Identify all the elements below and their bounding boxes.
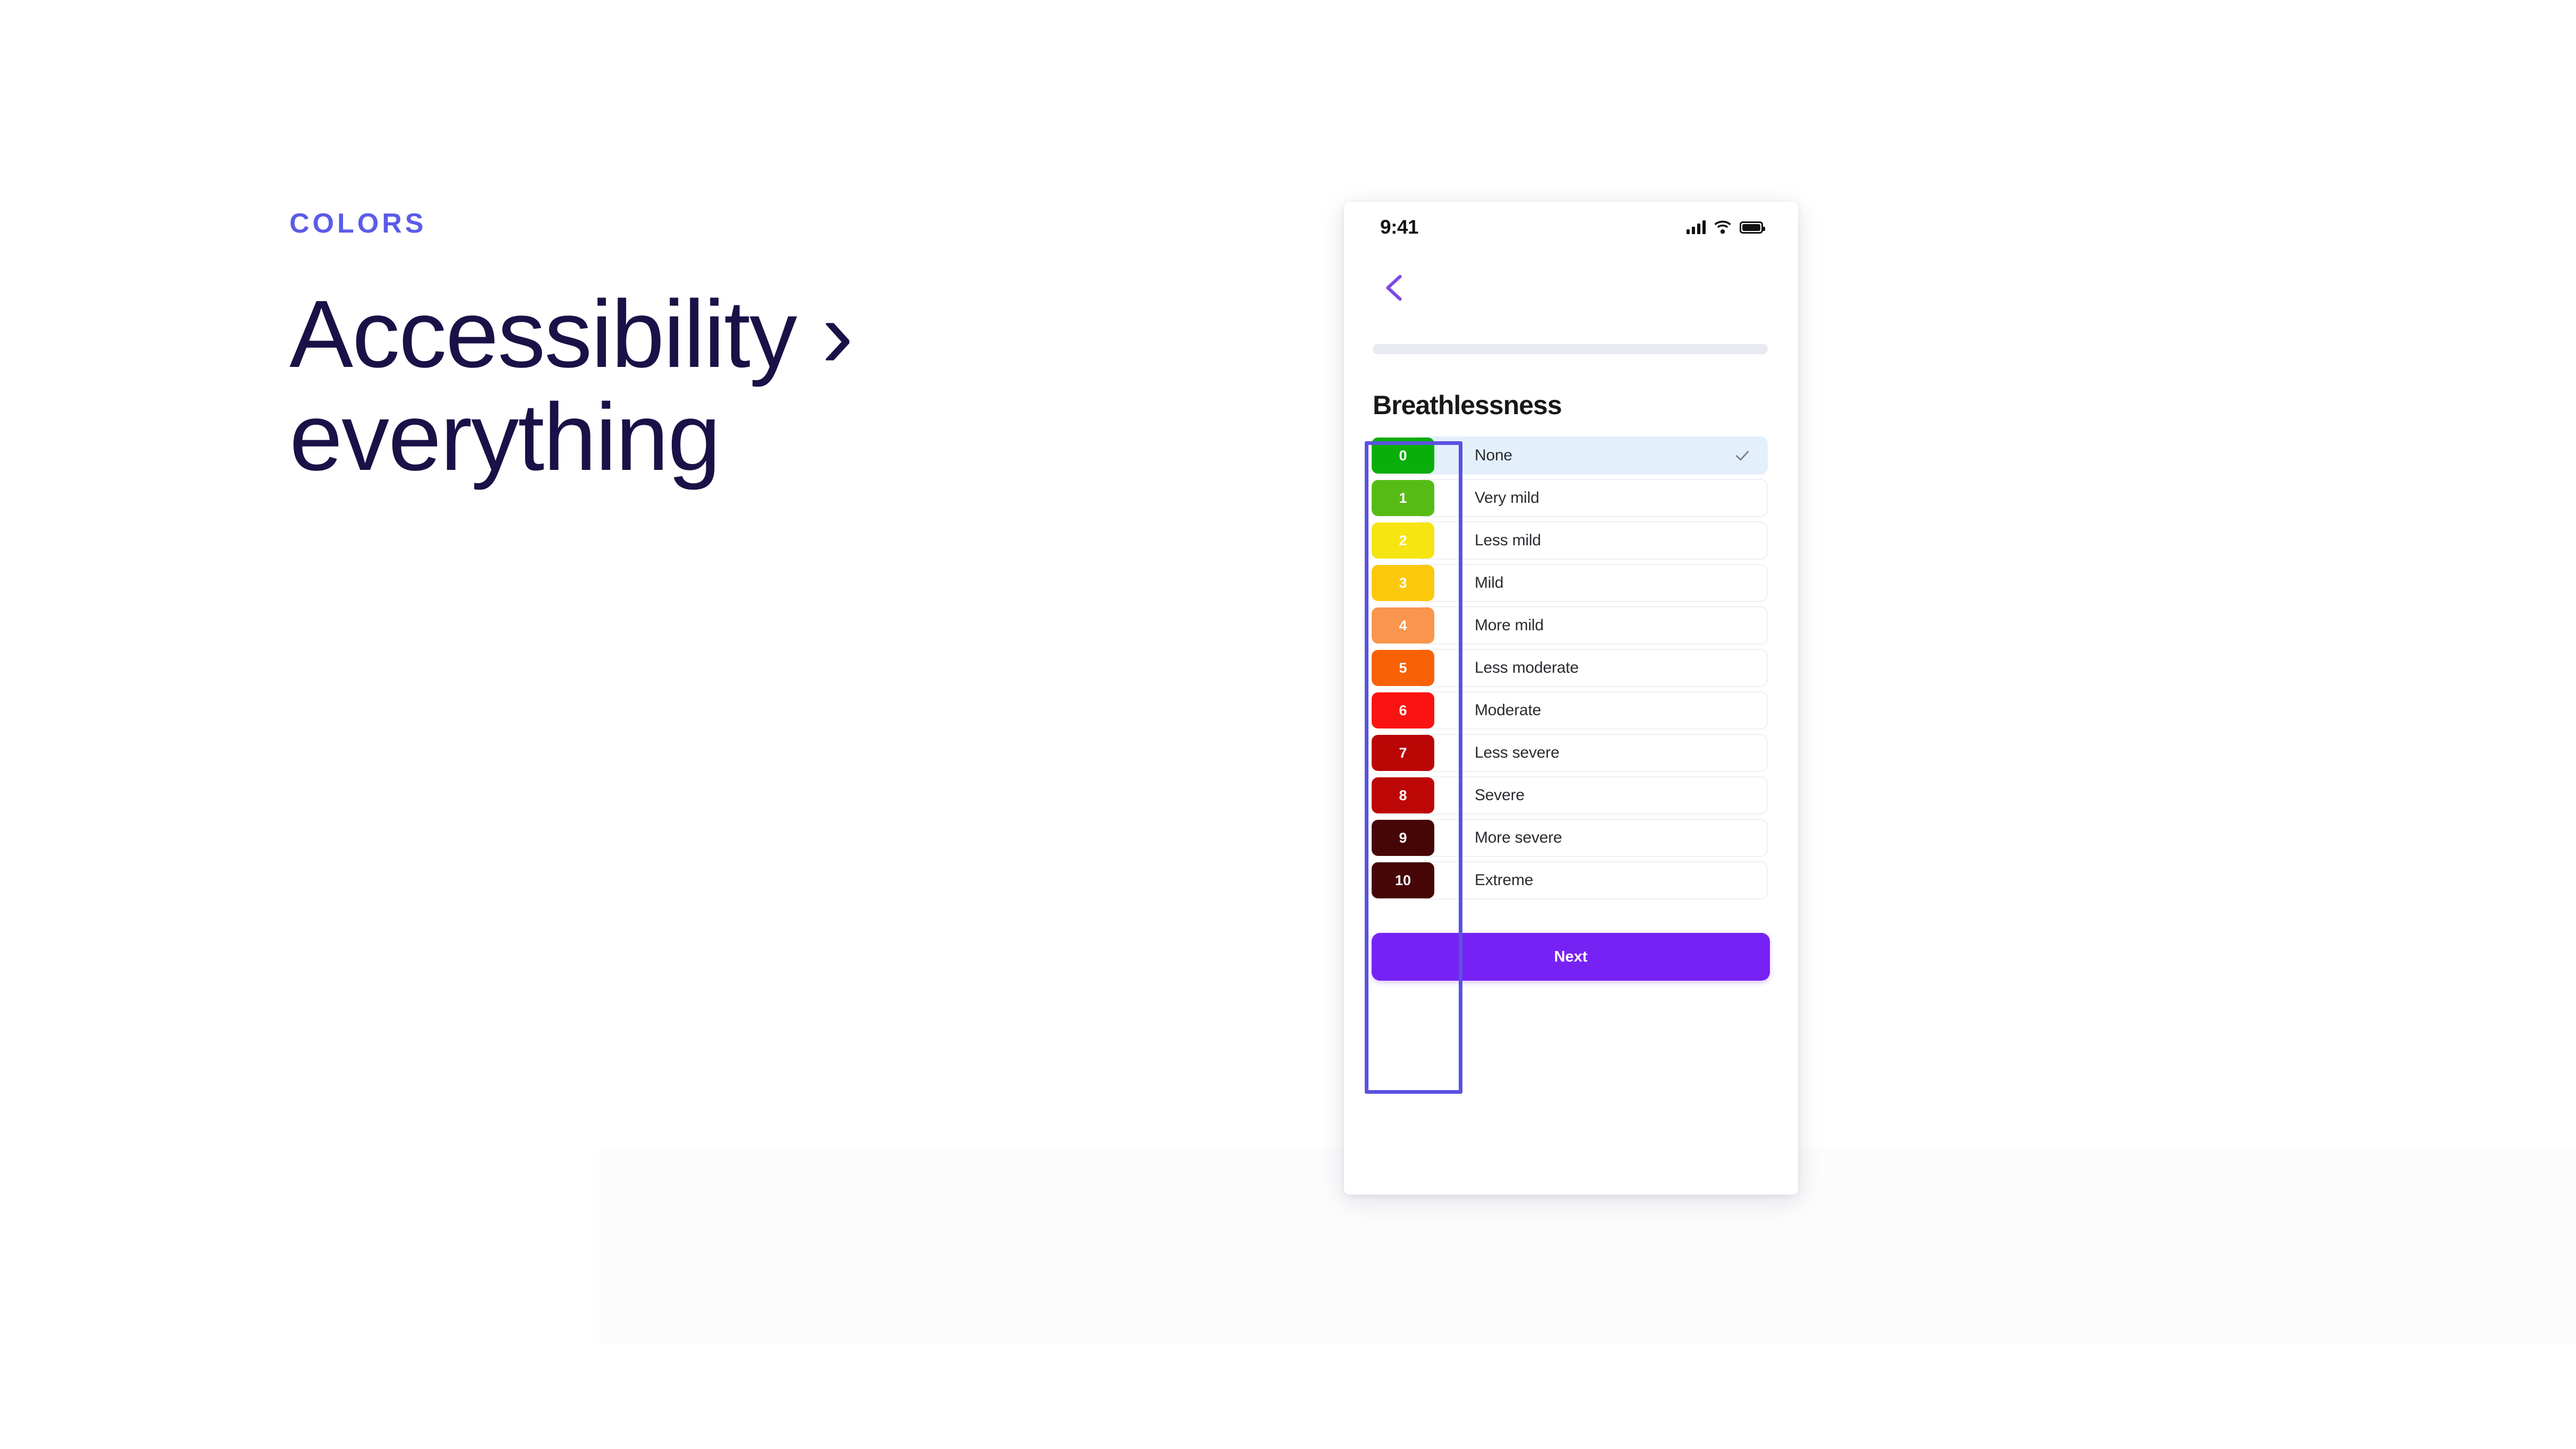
scale-row[interactable]: Mild3: [1344, 562, 1798, 604]
check-icon: [1734, 447, 1751, 464]
scale-row-card[interactable]: Less severe: [1416, 734, 1768, 772]
scale-row-label: Mild: [1475, 574, 1751, 592]
phone-mockup: 9:41: [1344, 202, 1798, 1195]
scale-swatch[interactable]: 2: [1372, 522, 1434, 559]
scale-swatch-value: 2: [1399, 533, 1407, 549]
scale-row-card[interactable]: None: [1416, 436, 1768, 475]
scale-row-card[interactable]: Mild: [1416, 564, 1768, 602]
scale-row[interactable]: Less mild2: [1344, 519, 1798, 562]
scale-swatch[interactable]: 1: [1372, 480, 1434, 516]
scale-row[interactable]: None0: [1344, 434, 1798, 477]
page-title: Accessibility › everything: [289, 283, 1192, 490]
scale-swatch[interactable]: 9: [1372, 820, 1434, 856]
editorial-column: COLORS Accessibility › everything: [289, 210, 1192, 490]
scale-swatch-value: 7: [1399, 745, 1407, 761]
next-button[interactable]: Next: [1372, 933, 1770, 981]
battery-full-icon: [1740, 221, 1763, 234]
scale-row-label: Less mild: [1475, 531, 1751, 550]
scale-row-label: Less moderate: [1475, 659, 1751, 677]
scale-row-label: Extreme: [1475, 871, 1751, 889]
scale-row[interactable]: Very mild1: [1344, 477, 1798, 519]
scale-row-label: More mild: [1475, 616, 1751, 635]
scale-swatch[interactable]: 6: [1372, 692, 1434, 728]
wifi-icon: [1714, 220, 1731, 234]
signal-bars-icon: [1687, 220, 1706, 234]
scale-swatch-value: 6: [1399, 702, 1407, 719]
status-icon-group: [1687, 220, 1763, 234]
scale-row[interactable]: Less moderate5: [1344, 647, 1798, 689]
question-title: Breathlessness: [1373, 390, 1562, 421]
section-eyebrow: COLORS: [289, 210, 1192, 237]
scale-row[interactable]: Extreme10: [1344, 859, 1798, 902]
scale-row[interactable]: Moderate6: [1344, 689, 1798, 732]
scale-row-card[interactable]: Less moderate: [1416, 649, 1768, 687]
severity-scale-list: None0Very mild1Less mild2Mild3More mild4…: [1344, 434, 1798, 902]
scale-swatch[interactable]: 0: [1372, 438, 1434, 474]
scale-swatch-value: 1: [1399, 490, 1407, 507]
scale-row-label: More severe: [1475, 829, 1751, 847]
scale-row-label: Severe: [1475, 786, 1751, 804]
screenshot-root: COLORS Accessibility › everything 9:41: [0, 0, 2576, 1449]
scale-swatch[interactable]: 8: [1372, 777, 1434, 813]
scale-swatch[interactable]: 3: [1372, 565, 1434, 601]
scale-swatch-value: 3: [1399, 575, 1407, 591]
scale-swatch[interactable]: 4: [1372, 607, 1434, 644]
scale-swatch-value: 9: [1399, 830, 1407, 846]
scale-row[interactable]: Less severe7: [1344, 732, 1798, 774]
scale-row-card[interactable]: Severe: [1416, 776, 1768, 814]
scale-row-card[interactable]: More severe: [1416, 819, 1768, 857]
scale-swatch-value: 4: [1399, 618, 1407, 634]
scale-swatch[interactable]: 7: [1372, 735, 1434, 771]
scale-row-label: None: [1475, 447, 1734, 465]
scale-row-label: Very mild: [1475, 489, 1751, 507]
chevron-left-icon: [1383, 273, 1405, 302]
scale-row[interactable]: More mild4: [1344, 604, 1798, 647]
progress-bar: [1373, 344, 1768, 354]
scale-row[interactable]: More severe9: [1344, 817, 1798, 859]
scale-row-card[interactable]: Very mild: [1416, 479, 1768, 517]
scale-swatch-value: 0: [1399, 448, 1407, 464]
scale-swatch-value: 5: [1399, 660, 1407, 676]
scale-row-label: Less severe: [1475, 744, 1751, 762]
scale-swatch-value: 10: [1395, 872, 1411, 889]
scale-row[interactable]: Severe8: [1344, 774, 1798, 817]
back-button[interactable]: [1372, 265, 1416, 310]
scale-row-card[interactable]: More mild: [1416, 606, 1768, 645]
status-time: 9:41: [1380, 216, 1418, 238]
scale-swatch[interactable]: 10: [1372, 862, 1434, 898]
scale-row-card[interactable]: Extreme: [1416, 861, 1768, 899]
status-bar: 9:41: [1344, 202, 1798, 253]
scale-row-card[interactable]: Moderate: [1416, 691, 1768, 730]
scale-swatch[interactable]: 5: [1372, 650, 1434, 686]
scale-row-card[interactable]: Less mild: [1416, 521, 1768, 560]
scale-swatch-value: 8: [1399, 787, 1407, 804]
scale-row-label: Moderate: [1475, 701, 1751, 719]
